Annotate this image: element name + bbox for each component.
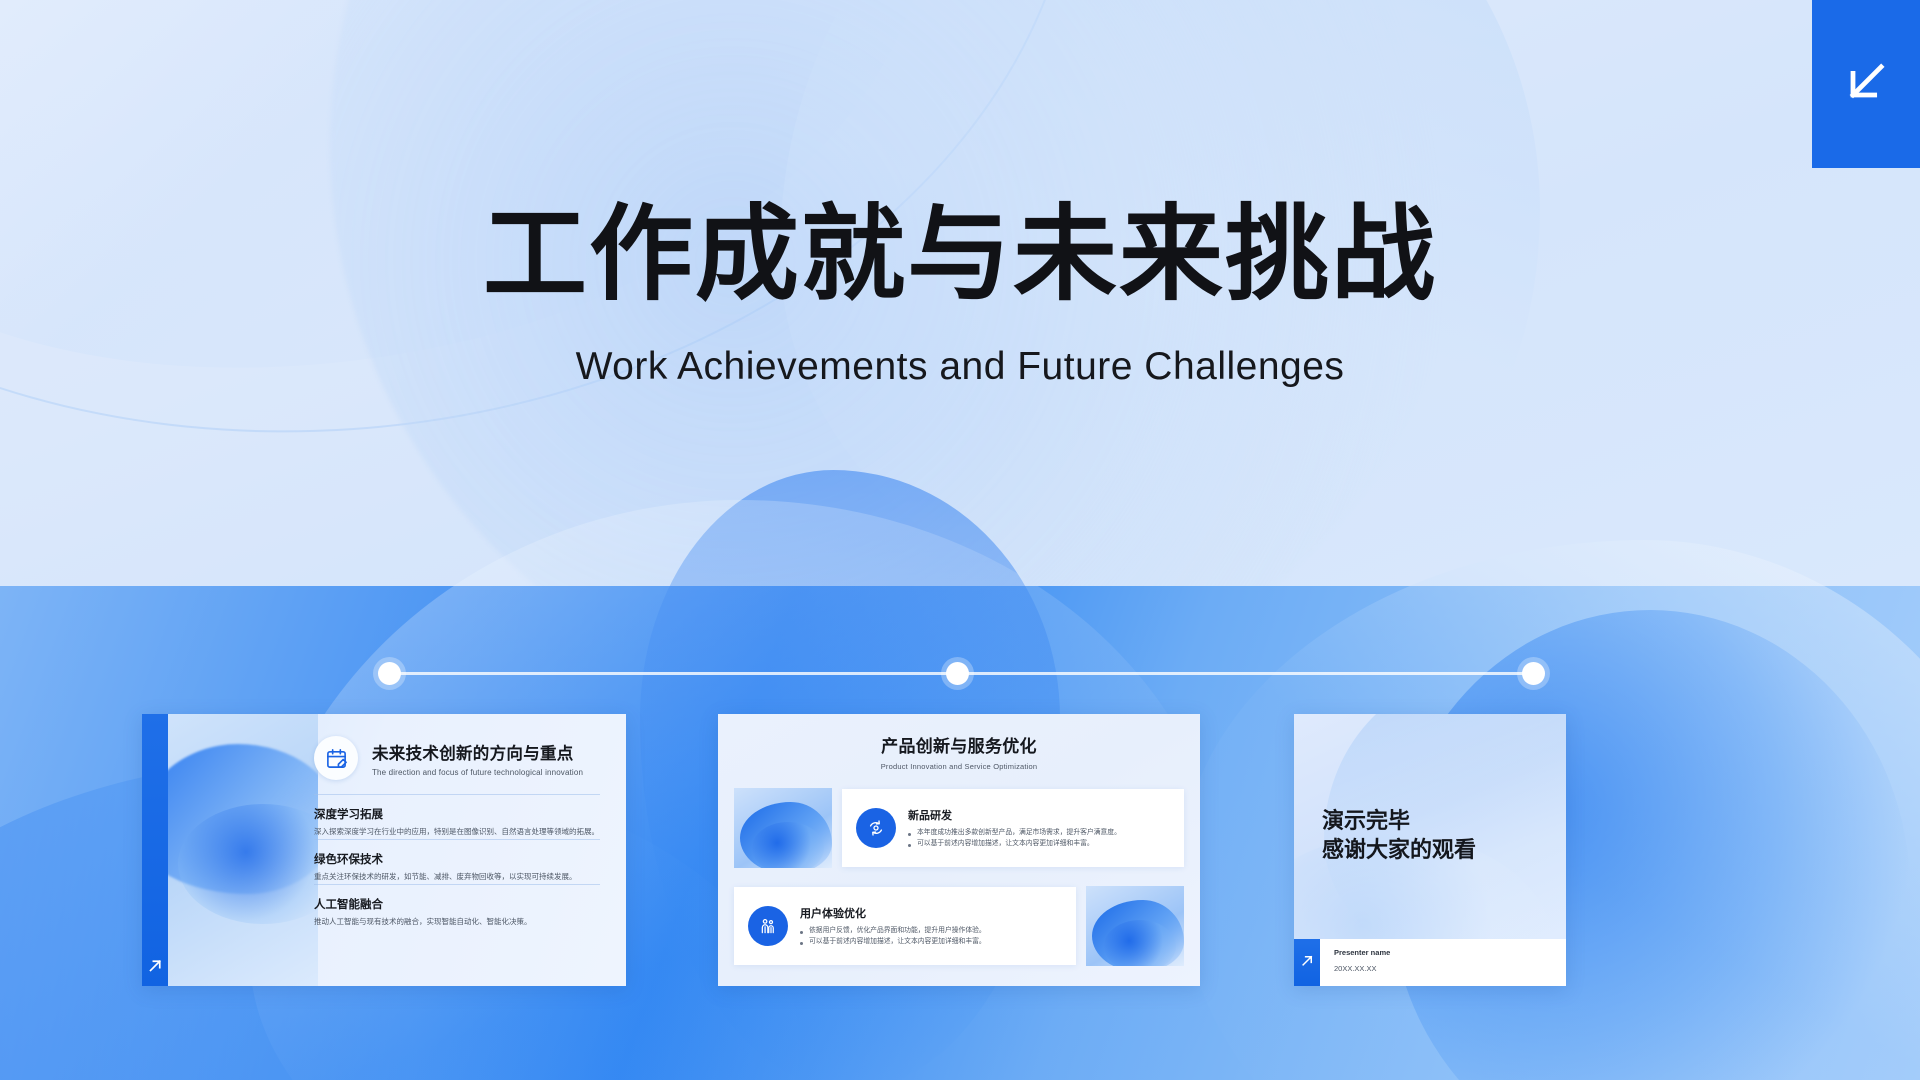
card1-title: 未来技术创新的方向与重点	[372, 740, 583, 764]
card2-thumbnail-right	[1086, 886, 1184, 966]
arrow-down-left-icon	[1840, 56, 1892, 113]
card1-item-title: 深度学习拓展	[314, 806, 600, 822]
card3-footer: Presenter name 20XX.XX.XX	[1294, 939, 1566, 986]
card2-row-user-experience[interactable]: 用户体验优化 依据用户反馈，优化产品界面和功能，提升用户操作体验。 可以基于前述…	[734, 883, 1184, 969]
list-item[interactable]: 绿色环保技术 重点关注环保技术的研发，如节能、减排、废弃物回收等，以实现可持续发…	[314, 839, 600, 882]
card2-bullet: 依据用户反馈，优化产品界面和功能，提升用户操作体验。	[800, 926, 986, 937]
calendar-edit-icon	[314, 736, 358, 780]
list-item[interactable]: 人工智能融合 推动人工智能与现有技术的融合，实现智能自动化、智能化决策。	[314, 884, 600, 927]
corner-badge[interactable]	[1812, 0, 1920, 168]
refresh-cycle-icon	[856, 808, 896, 848]
timeline-dot-1[interactable]	[378, 662, 401, 685]
card3-message: 演示完毕 感谢大家的观看	[1294, 714, 1566, 864]
title-block: 工作成就与未来挑战 Work Achievements and Future C…	[0, 0, 1920, 586]
presenter-name: Presenter name	[1334, 948, 1566, 957]
list-item[interactable]: 深度学习拓展 深入探索深度学习在行业中的应用，特别是在图像识别、自然语言处理等领…	[314, 794, 600, 837]
presentation-date: 20XX.XX.XX	[1334, 964, 1566, 973]
card1-item-desc: 重点关注环保技术的研发，如节能、减排、废弃物回收等，以实现可持续发展。	[314, 872, 600, 882]
card2-subtitle: Product Innovation and Service Optimizat…	[734, 762, 1184, 771]
card2-thumbnail-left	[734, 788, 832, 868]
card-thank-you[interactable]: 演示完毕 感谢大家的观看 Presenter name 20XX.XX.XX	[1294, 714, 1566, 986]
card1-item-desc: 推动人工智能与现有技术的融合，实现智能自动化、智能化决策。	[314, 917, 600, 927]
card1-accent-bar	[142, 714, 168, 986]
card3-line-2: 感谢大家的观看	[1322, 835, 1566, 864]
arrow-up-right-icon	[1300, 953, 1315, 973]
card2-bullet: 可以基于前述内容增加描述，让文本内容更加详细和丰富。	[908, 839, 1121, 850]
card3-line-1: 演示完毕	[1322, 806, 1566, 835]
card1-item-title: 绿色环保技术	[314, 851, 600, 867]
card1-item-desc: 深入探索深度学习在行业中的应用，特别是在图像识别、自然语言处理等领域的拓展。	[314, 827, 600, 837]
card1-item-title: 人工智能融合	[314, 896, 600, 912]
card1-item-list: 深度学习拓展 深入探索深度学习在行业中的应用，特别是在图像识别、自然语言处理等领…	[314, 794, 600, 927]
timeline	[0, 654, 1920, 694]
users-icon	[748, 906, 788, 946]
page-title: 工作成就与未来挑战	[483, 197, 1437, 311]
card2-bullet: 本年度成功推出多款创新型产品，满足市场需求，提升客户满意度。	[908, 828, 1121, 839]
card-future-technology[interactable]: 未来技术创新的方向与重点 The direction and focus of …	[142, 714, 626, 986]
card1-subtitle: The direction and focus of future techno…	[372, 768, 583, 777]
page-subtitle: Work Achievements and Future Challenges	[576, 345, 1345, 389]
card-product-innovation[interactable]: 产品创新与服务优化 Product Innovation and Service…	[718, 714, 1200, 986]
timeline-dot-3[interactable]	[1522, 662, 1545, 685]
timeline-dot-2[interactable]	[946, 662, 969, 685]
card2-panel-title: 新品研发	[908, 807, 1121, 823]
card2-title: 产品创新与服务优化	[734, 732, 1184, 757]
card2-panel-title: 用户体验优化	[800, 905, 986, 921]
card3-corner-badge[interactable]	[1294, 939, 1320, 986]
card3-body: 演示完毕 感谢大家的观看	[1294, 714, 1566, 939]
cards-row: 未来技术创新的方向与重点 The direction and focus of …	[0, 710, 1920, 1010]
card2-bullet: 可以基于前述内容增加描述，让文本内容更加详细和丰富。	[800, 937, 986, 948]
card2-row-new-product[interactable]: 新品研发 本年度成功推出多款创新型产品，满足市场需求，提升客户满意度。 可以基于…	[734, 785, 1184, 871]
